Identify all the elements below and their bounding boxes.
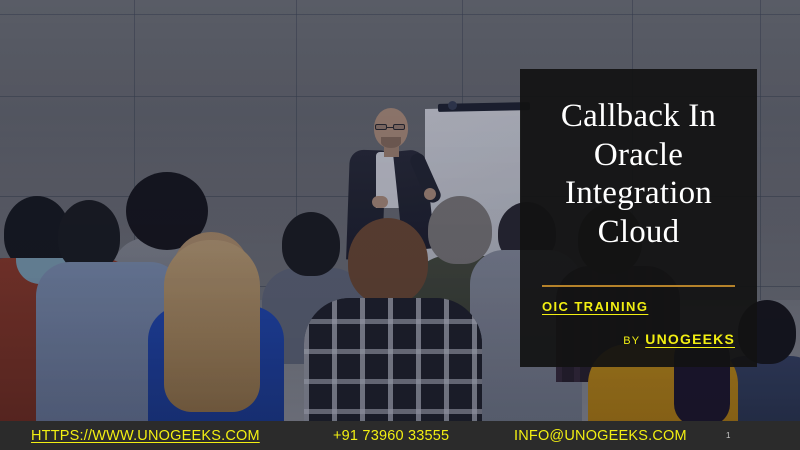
title-line: Cloud xyxy=(540,213,737,252)
email-address: INFO@UNOGEEKS.COM xyxy=(514,428,687,444)
title-line: Integration xyxy=(540,174,737,213)
title-line: Oracle xyxy=(540,136,737,175)
course-subtitle: OIC TRAINING xyxy=(542,299,737,314)
presentation-slide: Callback In Oracle Integration Cloud OIC… xyxy=(0,0,800,450)
footer-bar: HTTPS://WWW.UNOGEEKS.COM +91 73960 33555… xyxy=(0,421,800,450)
brand-name: UNOGEEKS xyxy=(645,331,735,347)
title-line: Callback In xyxy=(540,97,737,136)
card-spacer xyxy=(540,251,737,285)
byline: BYUNOGEEKS xyxy=(540,331,735,349)
byline-prefix: BY xyxy=(623,335,640,347)
page-number: 1 xyxy=(726,431,730,440)
website-link[interactable]: HTTPS://WWW.UNOGEEKS.COM xyxy=(31,428,260,444)
accent-divider xyxy=(542,285,735,287)
slide-title: Callback In Oracle Integration Cloud xyxy=(540,97,737,251)
phone-number: +91 73960 33555 xyxy=(333,428,449,444)
title-card: Callback In Oracle Integration Cloud OIC… xyxy=(520,69,757,367)
